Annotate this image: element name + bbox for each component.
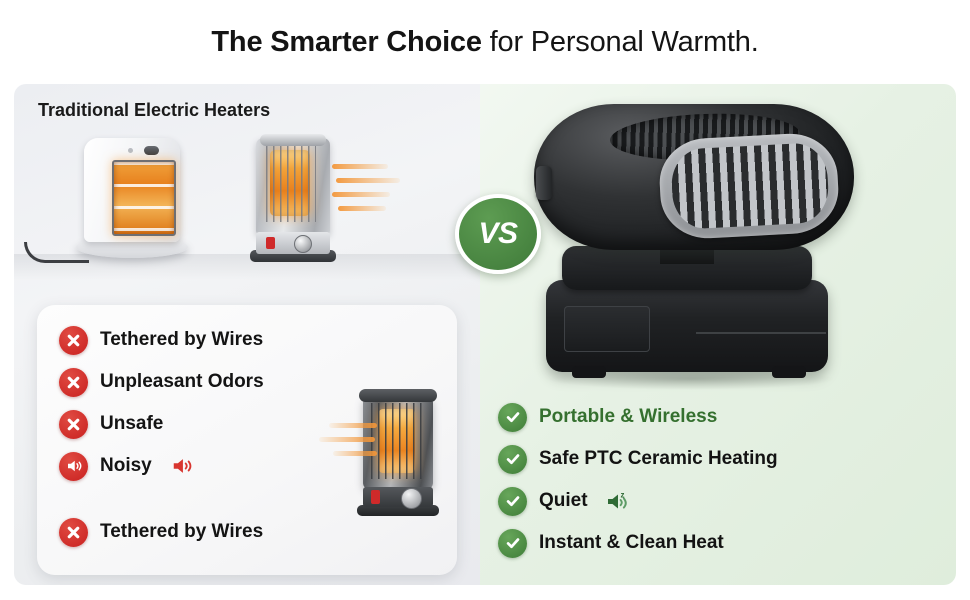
heat-wave-icon bbox=[332, 160, 406, 220]
cons-item-label: Tethered by Wires bbox=[100, 329, 263, 351]
title-bar: The Smarter Choice for Personal Warmth. bbox=[0, 0, 970, 84]
page-title-light: for Personal Warmth. bbox=[482, 26, 759, 58]
pros-item-label: Quiet bbox=[539, 490, 588, 512]
traditional-heaters-panel: Traditional Electric Heaters bbox=[14, 84, 480, 585]
cage-bars bbox=[371, 403, 425, 479]
check-circle-icon bbox=[498, 529, 527, 558]
cons-item-label: Unsafe bbox=[100, 413, 163, 435]
pros-list-item: Safe PTC Ceramic Heating bbox=[498, 438, 938, 480]
battery-window bbox=[564, 306, 650, 352]
red-button bbox=[371, 490, 380, 504]
vs-badge: VS bbox=[455, 194, 541, 274]
control-knob bbox=[401, 488, 422, 509]
check-circle-icon bbox=[498, 403, 527, 432]
cage-bars bbox=[266, 144, 316, 222]
cons-list-item: Unsafe bbox=[59, 403, 359, 445]
check-circle-icon bbox=[498, 445, 527, 474]
cons-list-item: Unpleasant Odors bbox=[59, 361, 359, 403]
heater-dial bbox=[144, 146, 159, 155]
cons-item-label: Tethered by Wires bbox=[100, 521, 263, 543]
cons-list-item: Noisy bbox=[59, 445, 359, 487]
base-foot bbox=[572, 366, 606, 378]
grille-vanes bbox=[670, 142, 830, 230]
x-circle-icon bbox=[59, 410, 88, 439]
base-foot bbox=[772, 366, 806, 378]
silver-fuel-heater-photo bbox=[246, 132, 342, 260]
pros-list-item: Quiet z bbox=[498, 480, 938, 522]
pros-item-label: Safe PTC Ceramic Heating bbox=[539, 448, 778, 470]
portable-heater-panel: Portable & Wireless Safe PTC Ceramic Hea… bbox=[480, 84, 956, 585]
pros-list-item: Instant & Clean Heat bbox=[498, 522, 938, 564]
svg-text:z: z bbox=[620, 490, 624, 499]
pros-list-item: Portable & Wireless bbox=[498, 396, 938, 438]
check-circle-icon bbox=[498, 487, 527, 516]
vs-badge-label: VS bbox=[478, 217, 517, 251]
speaker-loud-emoji bbox=[170, 455, 194, 477]
x-circle-icon bbox=[59, 368, 88, 397]
dark-kerosene-heater-photo bbox=[351, 387, 443, 517]
comparison-panels: Traditional Electric Heaters bbox=[14, 84, 956, 585]
indicator-led bbox=[128, 148, 133, 153]
pros-list: Portable & Wireless Safe PTC Ceramic Hea… bbox=[498, 396, 938, 564]
glowing-heating-element bbox=[112, 160, 176, 236]
base-seam bbox=[696, 332, 826, 334]
pros-item-label: Portable & Wireless bbox=[539, 406, 717, 428]
cons-list: Tethered by Wires Unpleasant Odors bbox=[59, 319, 359, 553]
speaker-quiet-emoji: z bbox=[606, 489, 632, 513]
page-title: The Smarter Choice for Personal Warmth. bbox=[211, 26, 758, 59]
cons-item-label: Unpleasant Odors bbox=[100, 371, 264, 393]
white-electric-heater-photo bbox=[76, 138, 188, 260]
side-knob bbox=[536, 166, 552, 200]
page-title-strong: The Smarter Choice bbox=[211, 26, 481, 58]
control-knob bbox=[294, 235, 312, 253]
speaker-loud-icon bbox=[59, 452, 88, 481]
x-circle-icon bbox=[59, 326, 88, 355]
black-portable-ptc-heater-photo bbox=[520, 98, 870, 394]
pros-item-label: Instant & Clean Heat bbox=[539, 532, 724, 554]
battery-base bbox=[546, 280, 828, 372]
heater-photo-stage bbox=[14, 128, 480, 298]
cons-item-label: Noisy bbox=[100, 455, 152, 477]
cons-card: Tethered by Wires Unpleasant Odors bbox=[37, 305, 457, 575]
left-panel-heading: Traditional Electric Heaters bbox=[38, 100, 270, 121]
cons-list-item: Tethered by Wires bbox=[59, 319, 359, 361]
x-circle-icon bbox=[59, 518, 88, 547]
red-button bbox=[266, 237, 275, 249]
heater-top-cap bbox=[359, 389, 437, 402]
heater-top-cap bbox=[260, 134, 326, 146]
front-grille bbox=[658, 131, 841, 240]
cons-list-item: Tethered by Wires bbox=[59, 511, 359, 553]
